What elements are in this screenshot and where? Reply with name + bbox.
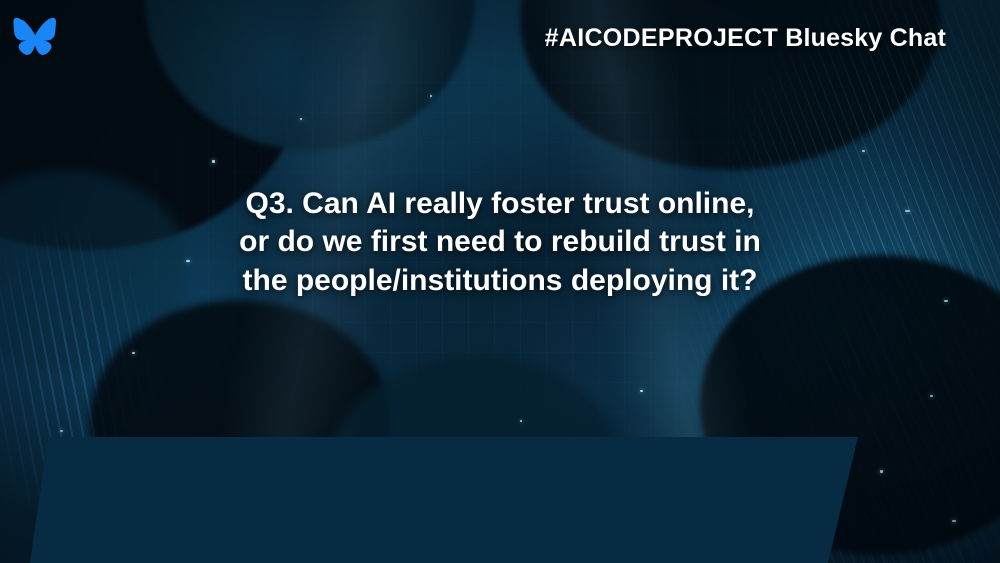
footer-content: ★ ★ ★ ★ ★ ★ ★ ★ ★ ★ ★ ★ Funded by the Eu… xyxy=(0,432,1000,563)
bluesky-butterfly-icon xyxy=(13,16,57,56)
hashtag-label: #AICODEPROJECT xyxy=(545,24,778,52)
header-title-rest: Bluesky Chat xyxy=(778,24,946,52)
question-text: Q3. Can AI really foster trust online, o… xyxy=(190,185,810,300)
question-line: the people/institutions deploying it? xyxy=(190,262,810,300)
social-card: #AICODEPROJECT Bluesky Chat Q3. Can AI r… xyxy=(0,0,1000,563)
question-line: or do we first need to rebuild trust in xyxy=(190,223,810,261)
header-title: #AICODEPROJECT Bluesky Chat xyxy=(545,24,946,53)
question-line: Q3. Can AI really foster trust online, xyxy=(190,185,810,223)
